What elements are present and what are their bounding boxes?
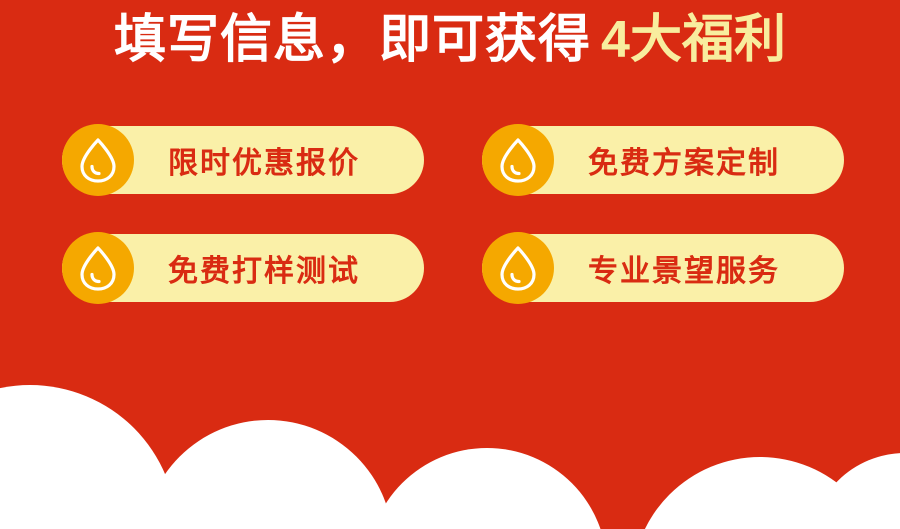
benefit-pill-2[interactable]: 免费方案定制 (482, 126, 844, 194)
benefit-pill-1[interactable]: 限时优惠报价 (62, 126, 424, 194)
water-drop-icon (62, 124, 134, 196)
promo-banner: 填写信息，即可获得4大福利 限时优惠报价 免费方案定制 (0, 0, 900, 529)
headline-highlight-text: 4大福利 (601, 11, 786, 69)
benefit-pill-3-label: 免费打样测试 (168, 246, 360, 290)
benefit-pill-1-label: 限时优惠报价 (168, 138, 360, 182)
water-drop-icon (62, 232, 134, 304)
benefits-grid: 限时优惠报价 免费方案定制 免费打样测试 (62, 126, 844, 302)
benefit-pill-4-label: 专业景望服务 (588, 246, 780, 290)
water-drop-icon (482, 124, 554, 196)
page-title: 填写信息，即可获得4大福利 (0, 14, 900, 66)
headline-lead-text: 填写信息，即可获得 (114, 11, 591, 69)
water-drop-icon (482, 232, 554, 304)
benefit-pill-4[interactable]: 专业景望服务 (482, 234, 844, 302)
benefit-pill-3[interactable]: 免费打样测试 (62, 234, 424, 302)
benefit-pill-2-label: 免费方案定制 (588, 138, 780, 182)
